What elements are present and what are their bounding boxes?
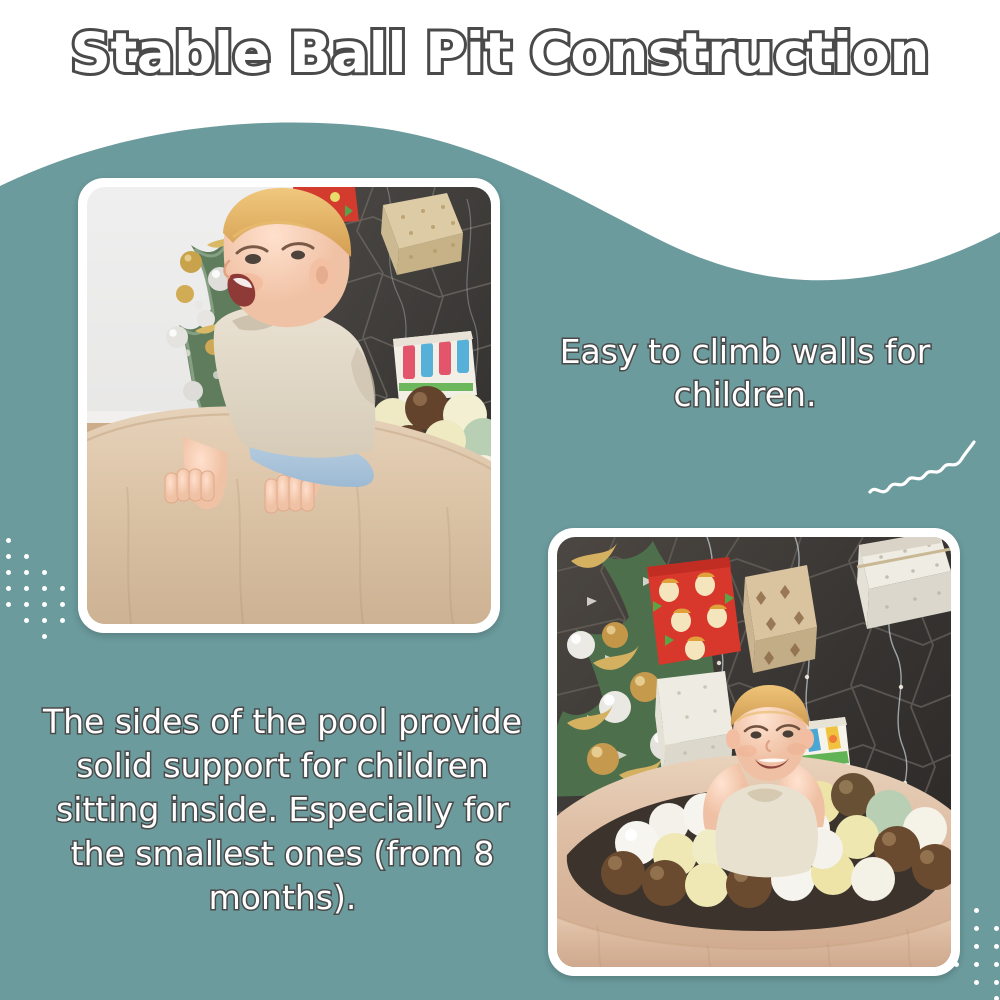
callout-solid-support: The sides of the pool provide solid supp…: [30, 700, 535, 920]
page-title-wrap: Stable Ball Pit Construction: [0, 22, 1000, 84]
dot-pattern-right: [944, 886, 1000, 1000]
infographic-canvas: Stable Ball Pit Construction: [0, 0, 1000, 1000]
page-title: Stable Ball Pit Construction: [71, 22, 929, 84]
photo-card-toddler-sitting: [548, 528, 960, 976]
photo-card-toddler-standing: [78, 178, 500, 633]
photo-toddler-sitting: [557, 537, 951, 967]
callout-easy-climb: Easy to climb walls for children.: [510, 330, 980, 416]
squiggle-decoration: [866, 432, 978, 498]
photo-toddler-standing: [87, 187, 491, 624]
dot-pattern-left: [0, 536, 60, 632]
